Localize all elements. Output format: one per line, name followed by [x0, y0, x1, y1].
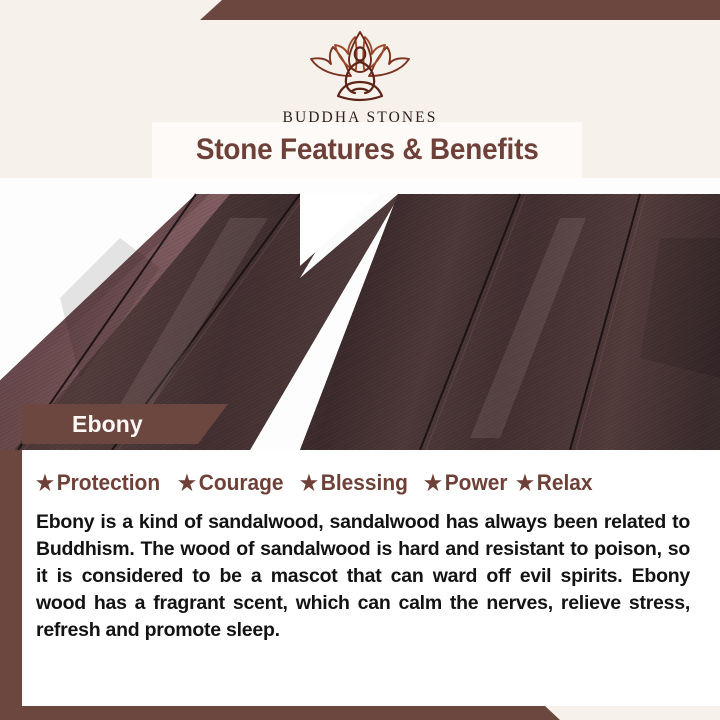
- benefit-label: Blessing: [320, 470, 407, 496]
- benefit-item-protection: ★ Protection: [36, 470, 160, 496]
- star-icon: ★: [424, 473, 442, 494]
- infographic-card: BUDDHA STONES Stone Features & Benefits: [0, 0, 720, 720]
- lotus-meditation-icon: [302, 26, 418, 104]
- product-label: Ebony: [72, 411, 143, 438]
- benefit-label: Protection: [57, 470, 160, 496]
- top-banner-decoration: [200, 0, 720, 20]
- benefit-label: Relax: [537, 470, 593, 496]
- benefit-item-power: ★ Power: [424, 470, 507, 496]
- star-icon: ★: [300, 473, 318, 494]
- star-icon: ★: [36, 473, 54, 494]
- benefit-label: Courage: [198, 470, 283, 496]
- star-icon: ★: [516, 473, 534, 494]
- benefit-label: Power: [445, 470, 508, 496]
- benefit-item-blessing: ★ Blessing: [300, 470, 408, 496]
- benefit-item-courage: ★ Courage: [178, 470, 284, 496]
- benefit-item-relax: ★ Relax: [516, 470, 593, 496]
- page-title: Stone Features & Benefits: [196, 133, 539, 167]
- brand-logo: BUDDHA STONES: [0, 26, 720, 127]
- bottom-bar-decoration: [0, 706, 560, 720]
- description-text: Ebony is a kind of sandalwood, sandalwoo…: [36, 509, 690, 644]
- benefits-list: ★ Protection ★ Courage ★ Blessing ★ Powe…: [36, 470, 690, 496]
- star-icon: ★: [178, 473, 196, 494]
- title-plaque: Stone Features & Benefits: [152, 122, 582, 178]
- content-panel: ★ Protection ★ Courage ★ Blessing ★ Powe…: [22, 450, 720, 706]
- product-label-ribbon: Ebony: [22, 404, 228, 444]
